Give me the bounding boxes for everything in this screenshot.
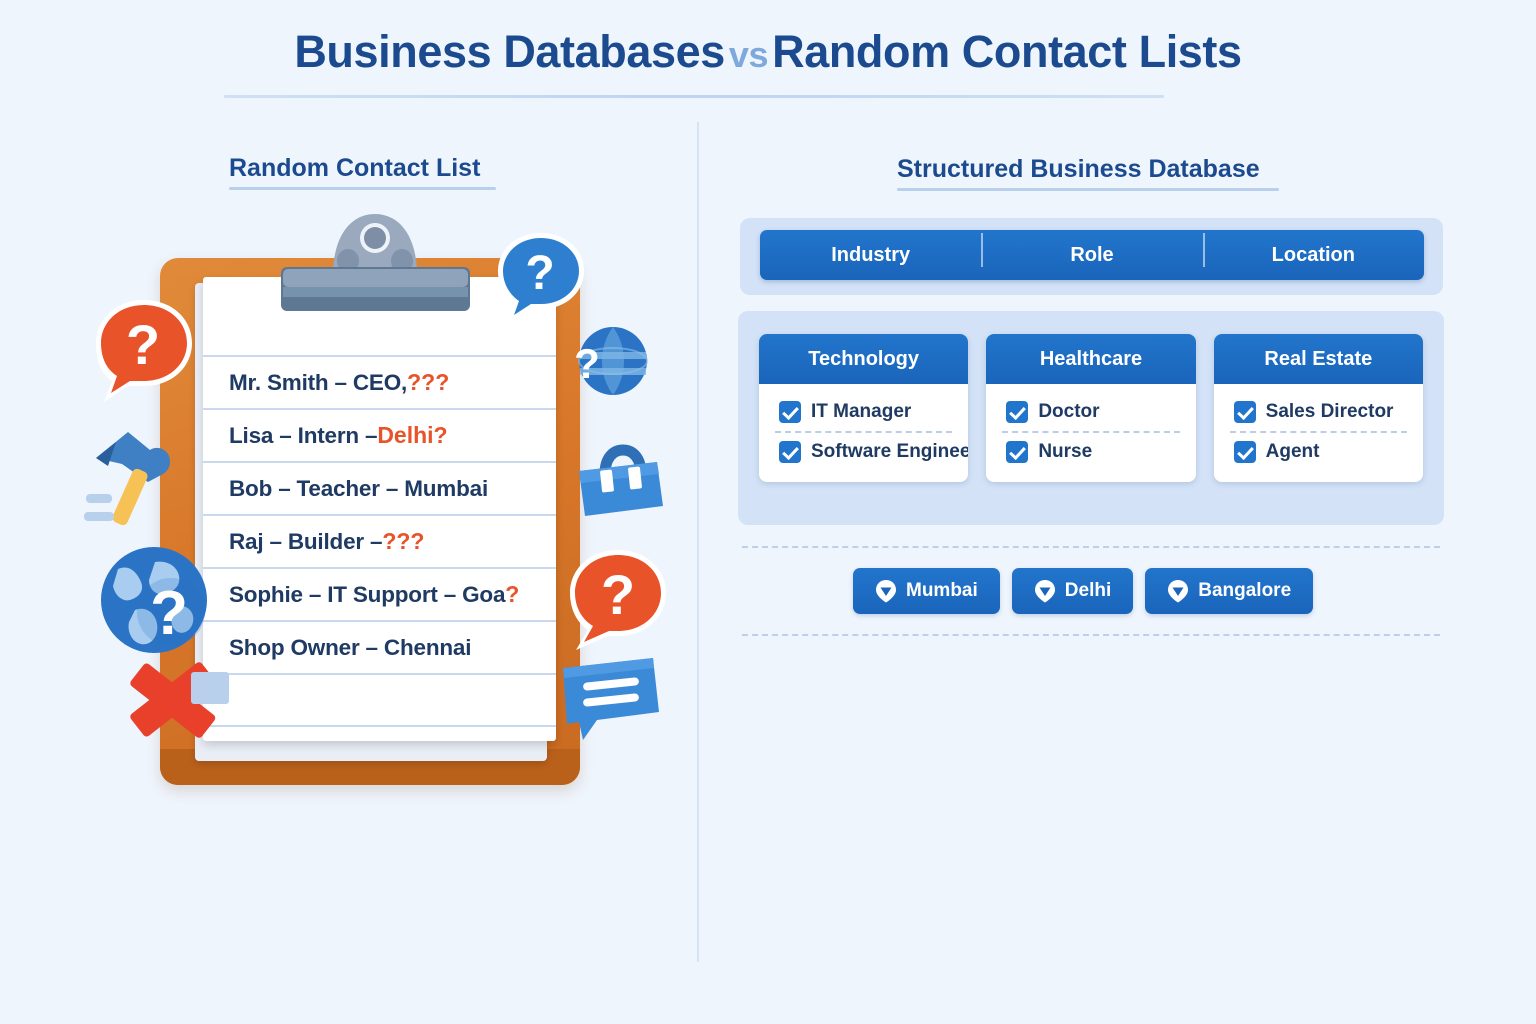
location-label: Delhi <box>1065 580 1111 602</box>
left-section-heading: Random Contact List <box>229 154 480 183</box>
list-item-text: Raj – Builder – <box>229 529 382 555</box>
globe-question-icon: ? <box>93 542 215 662</box>
list-blank-line <box>203 725 556 741</box>
role-item[interactable]: IT Manager <box>759 394 968 430</box>
briefcase-icon <box>573 440 669 524</box>
category-card-technology: Technology IT Manager Software Engineer <box>759 334 968 482</box>
role-label: IT Manager <box>811 401 911 423</box>
infographic-canvas: Business DatabasesvsRandom Contact Lists… <box>0 0 1536 1024</box>
role-label: Nurse <box>1038 441 1092 463</box>
list-item: Bob – Teacher – Mumbai <box>203 461 556 514</box>
question-bubble-blue-icon: ? <box>493 230 589 326</box>
svg-text:?: ? <box>525 247 554 300</box>
checkbox-checked-icon[interactable] <box>1234 401 1256 423</box>
page-title: Business DatabasesvsRandom Contact Lists <box>0 26 1536 78</box>
location-chips-row: Mumbai Delhi Bangalore <box>853 568 1313 614</box>
location-chip-bangalore[interactable]: Bangalore <box>1145 568 1313 614</box>
panel-divider <box>697 122 699 962</box>
location-chip-mumbai[interactable]: Mumbai <box>853 568 1000 614</box>
checkbox-checked-icon[interactable] <box>1234 441 1256 463</box>
role-item[interactable]: Nurse <box>986 434 1195 470</box>
role-item[interactable]: Doctor <box>986 394 1195 430</box>
checkbox-checked-icon[interactable] <box>1006 441 1028 463</box>
role-label: Doctor <box>1038 401 1099 423</box>
hammer-icon <box>78 420 190 530</box>
category-title: Technology <box>759 334 968 384</box>
column-header-role[interactable]: Role <box>981 244 1202 267</box>
checkbox-checked-icon[interactable] <box>1006 401 1028 423</box>
role-item[interactable]: Agent <box>1214 434 1423 470</box>
column-header-industry[interactable]: Industry <box>760 244 981 267</box>
list-blank-line <box>203 673 556 725</box>
role-label: Sales Director <box>1266 401 1394 423</box>
category-title: Healthcare <box>986 334 1195 384</box>
list-item: Sophie – IT Support – Goa? <box>203 567 556 620</box>
clipboard-clip-icon <box>273 210 478 315</box>
location-label: Mumbai <box>906 580 978 602</box>
svg-text:?: ? <box>574 340 600 387</box>
right-section-heading: Structured Business Database <box>897 155 1260 184</box>
item-separator <box>775 431 952 433</box>
chat-bubble-icon <box>557 654 665 744</box>
map-pin-icon <box>1167 579 1189 603</box>
svg-text:?: ? <box>150 579 188 648</box>
checkbox-checked-icon[interactable] <box>779 401 801 423</box>
clipboard-paper: Mr. Smith – CEO, ??? Lisa – Intern – Del… <box>203 277 556 741</box>
list-item-text: Mr. Smith – CEO, <box>229 370 407 396</box>
category-card-real-estate: Real Estate Sales Director Agent <box>1214 334 1423 482</box>
location-label: Bangalore <box>1198 580 1291 602</box>
item-separator <box>1230 431 1407 433</box>
locations-separator-bottom <box>742 634 1440 636</box>
list-item: Lisa – Intern – Delhi? <box>203 408 556 461</box>
question-bubble-orange-right-icon: ? <box>562 546 672 654</box>
category-card-healthcare: Healthcare Doctor Nurse <box>986 334 1195 482</box>
checkbox-checked-icon[interactable] <box>779 441 801 463</box>
item-separator <box>1002 431 1179 433</box>
database-column-headers: Industry Role Location <box>760 230 1424 280</box>
map-pin-icon <box>875 579 897 603</box>
list-item: Raj – Builder – ??? <box>203 514 556 567</box>
left-heading-underline <box>229 187 496 190</box>
title-part2: Random Contact Lists <box>772 26 1242 77</box>
category-items: IT Manager Software Engineer <box>759 384 968 482</box>
question-bubble-orange-icon: ? <box>88 296 200 406</box>
globe-question-small-icon: ? <box>565 320 653 402</box>
role-label: Agent <box>1266 441 1320 463</box>
list-item: Mr. Smith – CEO, ??? <box>203 355 556 408</box>
list-item-text: Lisa – Intern – <box>229 423 377 449</box>
title-part1: Business Databases <box>294 26 725 77</box>
category-items: Sales Director Agent <box>1214 384 1423 482</box>
category-cards-row: Technology IT Manager Software Engineer … <box>759 334 1423 482</box>
location-chip-delhi[interactable]: Delhi <box>1012 568 1133 614</box>
map-pin-icon <box>1034 579 1056 603</box>
category-title: Real Estate <box>1214 334 1423 384</box>
title-divider <box>224 95 1164 98</box>
role-label: Software Engineer <box>811 441 968 463</box>
list-item-flag: ? <box>505 581 519 608</box>
list-item-text: Bob – Teacher – Mumbai <box>229 476 488 502</box>
svg-text:?: ? <box>601 563 635 626</box>
right-heading-underline <box>897 188 1279 191</box>
title-vs: vs <box>725 34 772 75</box>
list-item-text: Sophie – IT Support – Goa <box>229 582 505 608</box>
paper-tab-marker <box>191 672 229 704</box>
locations-separator-top <box>742 546 1440 548</box>
list-item-flag: Delhi? <box>377 422 447 449</box>
contact-list: Mr. Smith – CEO, ??? Lisa – Intern – Del… <box>203 355 556 741</box>
column-header-location[interactable]: Location <box>1203 244 1424 267</box>
category-items: Doctor Nurse <box>986 384 1195 482</box>
role-item[interactable]: Sales Director <box>1214 394 1423 430</box>
role-item[interactable]: Software Engineer <box>759 434 968 470</box>
svg-text:?: ? <box>126 313 160 376</box>
list-item-flag: ??? <box>407 369 449 396</box>
list-item: Shop Owner – Chennai <box>203 620 556 673</box>
list-item-text: Shop Owner – Chennai <box>229 635 471 661</box>
list-item-flag: ??? <box>382 528 424 555</box>
